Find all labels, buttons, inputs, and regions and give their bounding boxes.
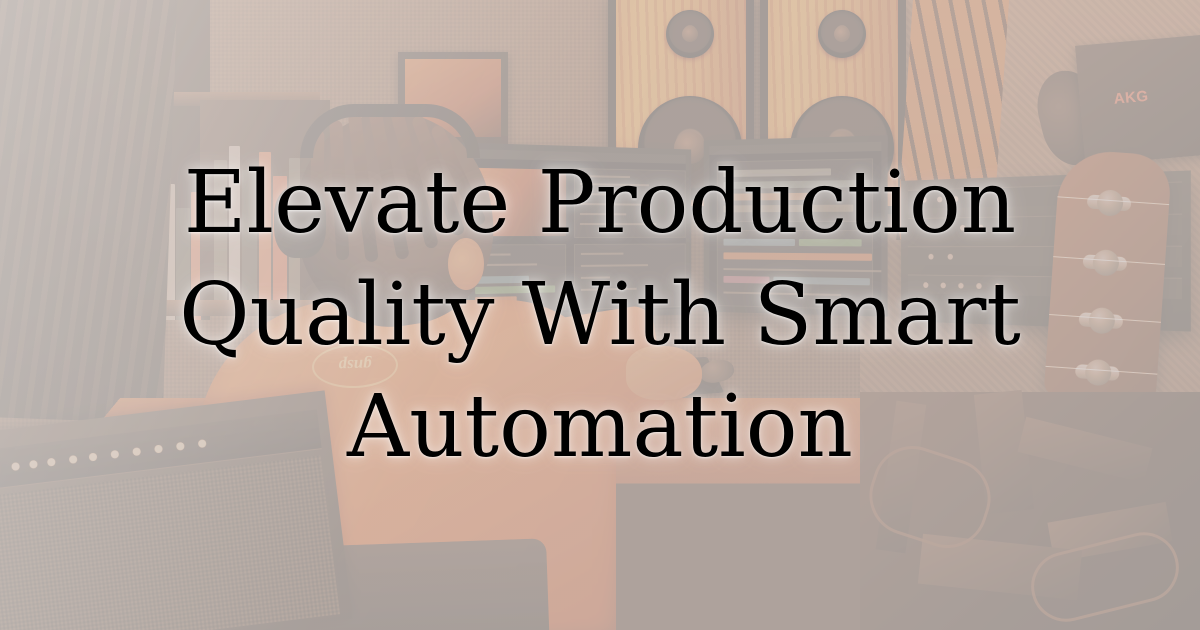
headline-line-2: Quality With Smart: [179, 259, 1021, 371]
headline-line-1: Elevate Production: [184, 147, 1016, 259]
headline-line-3: Automation: [347, 371, 853, 483]
social-share-banner: AKG: [0, 0, 1200, 630]
headline-block: Elevate Production Quality With Smart Au…: [0, 0, 1200, 630]
